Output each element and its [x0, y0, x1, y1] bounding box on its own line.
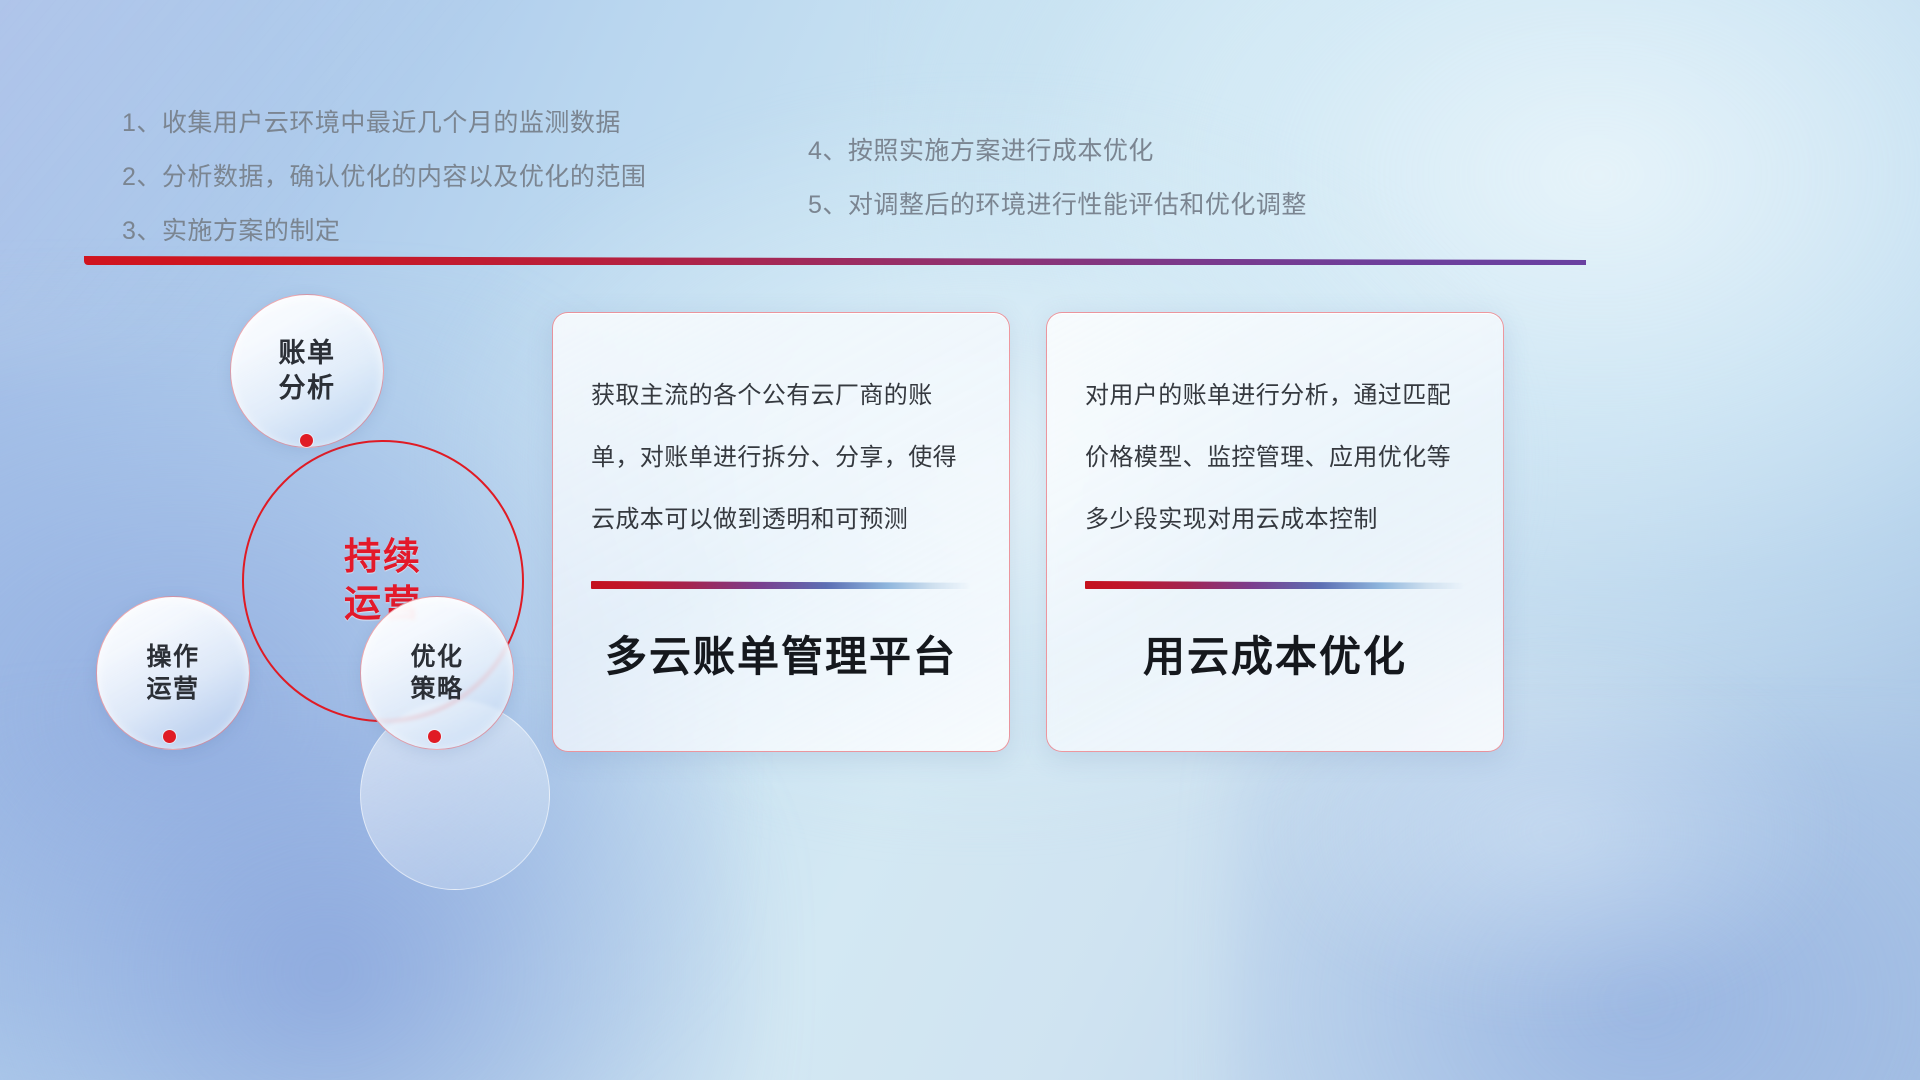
card-multi-cloud-billing-rule [591, 581, 971, 589]
bubble-operation-line1: 操作 [146, 641, 199, 673]
bubble-bill-analysis-line2: 分析 [279, 371, 336, 406]
step-item-4: 4、按照实施方案进行成本优化 [808, 124, 1307, 178]
continuous-operation-diagram: 持续 运营 账单 分析 操作 运营 优化 策略 [88, 288, 520, 768]
card-cloud-cost-optimization-rule [1085, 581, 1465, 589]
bubble-optimization-strategy[interactable]: 优化 策略 [360, 596, 514, 750]
bubble-optimization-strategy-line2: 策略 [410, 673, 463, 705]
step-item-5: 5、对调整后的环境进行性能评估和优化调整 [808, 178, 1307, 232]
steps-column-right: 4、按照实施方案进行成本优化 5、对调整后的环境进行性能评估和优化调整 [808, 124, 1307, 232]
node-dot-left-icon [163, 730, 176, 743]
card-cloud-cost-optimization-title: 用云成本优化 [1085, 623, 1465, 684]
card-multi-cloud-billing-body: 获取主流的各个公有云厂商的账单，对账单进行拆分、分享，使得云成本可以做到透明和可… [591, 365, 971, 551]
bubble-operation-line2: 运营 [146, 673, 199, 705]
bubble-optimization-strategy-line1: 优化 [410, 641, 463, 673]
node-dot-right-icon [428, 730, 441, 743]
card-cloud-cost-optimization-body: 对用户的账单进行分析，通过匹配价格模型、监控管理、应用优化等多少段实现对用云成本… [1085, 365, 1465, 551]
card-multi-cloud-billing-title: 多云账单管理平台 [591, 623, 971, 684]
step-item-1: 1、收集用户云环境中最近几个月的监测数据 [122, 96, 646, 150]
section-divider [84, 256, 1586, 265]
bubble-operation[interactable]: 操作 运营 [96, 596, 250, 750]
step-item-3: 3、实施方案的制定 [122, 204, 646, 258]
card-multi-cloud-billing[interactable]: 获取主流的各个公有云厂商的账单，对账单进行拆分、分享，使得云成本可以做到透明和可… [552, 312, 1010, 752]
bubble-bill-analysis-line1: 账单 [279, 336, 336, 371]
steps-column-left: 1、收集用户云环境中最近几个月的监测数据 2、分析数据，确认优化的内容以及优化的… [122, 96, 646, 258]
bubble-bill-analysis[interactable]: 账单 分析 [230, 294, 384, 448]
center-ring-label-line1: 持续 [344, 534, 422, 581]
slide-stage: 1、收集用户云环境中最近几个月的监测数据 2、分析数据，确认优化的内容以及优化的… [0, 0, 1920, 1080]
step-item-2: 2、分析数据，确认优化的内容以及优化的范围 [122, 150, 646, 204]
section-divider-bar [84, 256, 1586, 265]
node-dot-top-icon [300, 434, 313, 447]
card-cloud-cost-optimization[interactable]: 对用户的账单进行分析，通过匹配价格模型、监控管理、应用优化等多少段实现对用云成本… [1046, 312, 1504, 752]
